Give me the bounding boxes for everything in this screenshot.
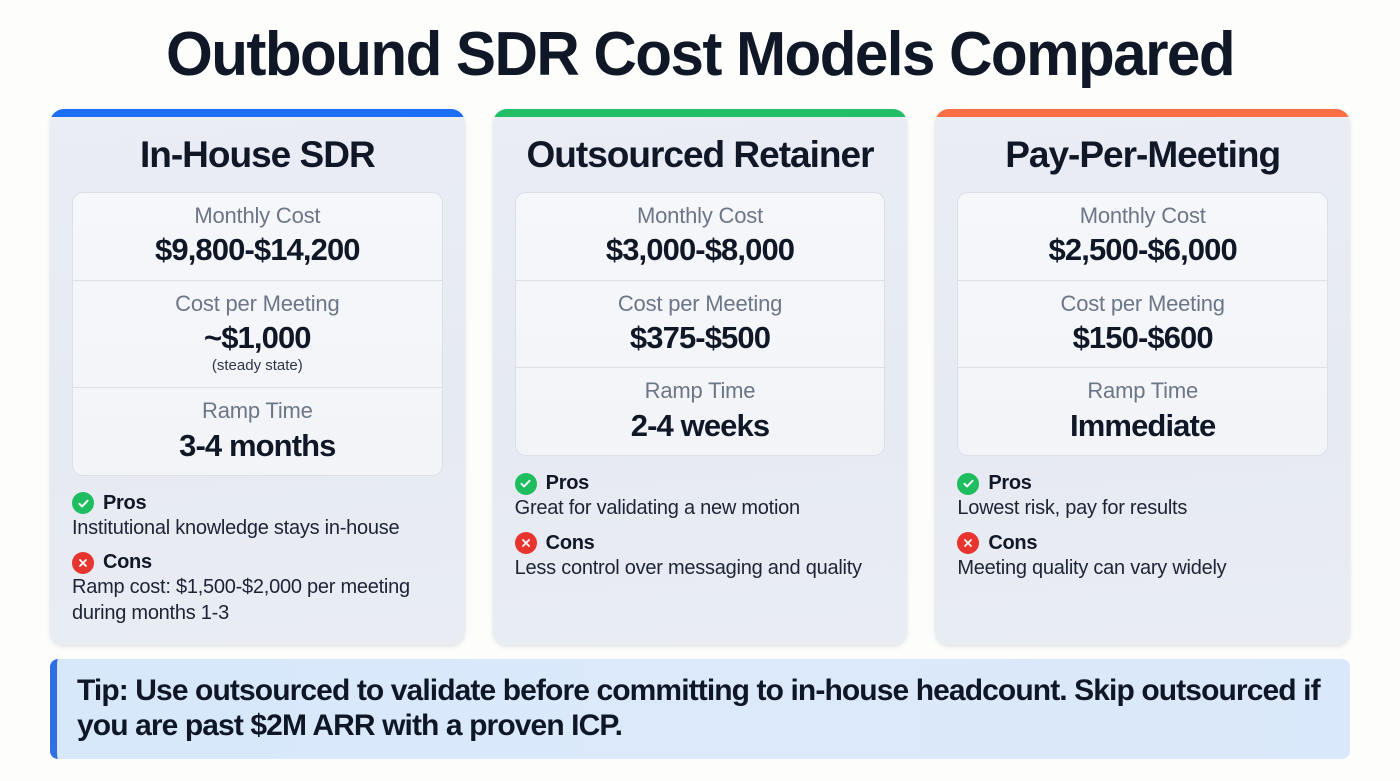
- pros-block: Pros Institutional knowledge stays in-ho…: [72, 492, 443, 542]
- stat-value: 3-4 months: [83, 427, 432, 464]
- stat-row: Monthly Cost $3,000-$8,000: [516, 193, 885, 281]
- pros-heading: Pros: [515, 472, 886, 495]
- pros-cons-list: Pros Great for validating a new motion C…: [493, 456, 908, 581]
- cons-block: Cons Meeting quality can vary widely: [957, 532, 1328, 582]
- stat-value: $3,000-$8,000: [526, 231, 875, 268]
- stat-row: Monthly Cost $2,500-$6,000: [958, 193, 1327, 281]
- stat-label: Cost per Meeting: [83, 290, 432, 319]
- cons-text: Ramp cost: $1,500-$2,000 per meeting dur…: [72, 575, 443, 626]
- infographic-root: Outbound SDR Cost Models Compared In-Hou…: [0, 0, 1400, 781]
- pros-cons-list: Pros Institutional knowledge stays in-ho…: [50, 476, 465, 627]
- stat-label: Ramp Time: [968, 377, 1317, 406]
- pros-block: Pros Great for validating a new motion: [515, 472, 886, 522]
- x-circle-icon: [72, 552, 94, 574]
- cons-heading: Cons: [515, 532, 886, 555]
- cons-block: Cons Ramp cost: $1,500-$2,000 per meetin…: [72, 551, 443, 626]
- stat-row: Monthly Cost $9,800-$14,200: [73, 193, 442, 281]
- stat-row: Ramp Time Immediate: [958, 368, 1327, 455]
- check-circle-icon: [957, 473, 979, 495]
- cons-label: Cons: [103, 551, 152, 574]
- stat-label: Cost per Meeting: [526, 290, 875, 319]
- x-circle-icon: [515, 532, 537, 554]
- card-title: Outsourced Retainer: [493, 117, 908, 192]
- page-header: Outbound SDR Cost Models Compared: [0, 0, 1400, 93]
- stat-note: (steady state): [83, 357, 432, 376]
- pros-block: Pros Lowest risk, pay for results: [957, 472, 1328, 522]
- stat-value: ~$1,000: [83, 319, 432, 356]
- card-title: Pay-Per-Meeting: [935, 117, 1350, 192]
- cons-label: Cons: [546, 532, 595, 555]
- pros-label: Pros: [103, 492, 146, 515]
- page-title: Outbound SDR Cost Models Compared: [60, 22, 1340, 87]
- stat-value: $375-$500: [526, 319, 875, 356]
- card-accent-bar: [50, 109, 465, 117]
- cost-model-card: In-House SDR Monthly Cost $9,800-$14,200…: [50, 109, 465, 645]
- pros-text: Lowest risk, pay for results: [957, 496, 1328, 522]
- stat-value: $150-$600: [968, 319, 1317, 356]
- card-accent-bar: [493, 109, 908, 117]
- cons-label: Cons: [988, 532, 1037, 555]
- x-circle-icon: [957, 532, 979, 554]
- pros-label: Pros: [988, 472, 1031, 495]
- check-circle-icon: [515, 473, 537, 495]
- stat-value: $2,500-$6,000: [968, 231, 1317, 268]
- stat-label: Monthly Cost: [526, 202, 875, 231]
- pros-text: Great for validating a new motion: [515, 496, 886, 522]
- card-title: In-House SDR: [50, 117, 465, 192]
- cons-text: Meeting quality can vary widely: [957, 556, 1328, 582]
- stat-row: Cost per Meeting $150-$600: [958, 281, 1327, 369]
- tip-banner: Tip: Use outsourced to validate before c…: [50, 659, 1350, 759]
- stat-row: Ramp Time 2-4 weeks: [516, 368, 885, 455]
- comparison-cards: In-House SDR Monthly Cost $9,800-$14,200…: [0, 93, 1400, 645]
- stat-row: Ramp Time 3-4 months: [73, 388, 442, 475]
- stat-label: Cost per Meeting: [968, 290, 1317, 319]
- stat-label: Ramp Time: [526, 377, 875, 406]
- stat-box: Monthly Cost $2,500-$6,000 Cost per Meet…: [957, 192, 1328, 456]
- pros-heading: Pros: [72, 492, 443, 515]
- check-circle-icon: [72, 492, 94, 514]
- cost-model-card: Pay-Per-Meeting Monthly Cost $2,500-$6,0…: [935, 109, 1350, 645]
- tip-section: Tip: Use outsourced to validate before c…: [0, 645, 1400, 759]
- tip-text: Tip: Use outsourced to validate before c…: [77, 673, 1328, 743]
- stat-box: Monthly Cost $3,000-$8,000 Cost per Meet…: [515, 192, 886, 456]
- stat-row: Cost per Meeting ~$1,000 (steady state): [73, 281, 442, 389]
- cons-block: Cons Less control over messaging and qua…: [515, 532, 886, 582]
- card-accent-bar: [935, 109, 1350, 117]
- stat-row: Cost per Meeting $375-$500: [516, 281, 885, 369]
- cons-heading: Cons: [957, 532, 1328, 555]
- pros-label: Pros: [546, 472, 589, 495]
- cons-heading: Cons: [72, 551, 443, 574]
- stat-label: Monthly Cost: [83, 202, 432, 231]
- stat-value: 2-4 weeks: [526, 407, 875, 444]
- pros-text: Institutional knowledge stays in-house: [72, 516, 443, 542]
- pros-heading: Pros: [957, 472, 1328, 495]
- stat-label: Monthly Cost: [968, 202, 1317, 231]
- cons-text: Less control over messaging and quality: [515, 556, 886, 582]
- stat-value: Immediate: [968, 407, 1317, 444]
- cost-model-card: Outsourced Retainer Monthly Cost $3,000-…: [493, 109, 908, 645]
- pros-cons-list: Pros Lowest risk, pay for results Cons M…: [935, 456, 1350, 581]
- stat-value: $9,800-$14,200: [83, 231, 432, 268]
- stat-box: Monthly Cost $9,800-$14,200 Cost per Mee…: [72, 192, 443, 476]
- stat-label: Ramp Time: [83, 397, 432, 426]
